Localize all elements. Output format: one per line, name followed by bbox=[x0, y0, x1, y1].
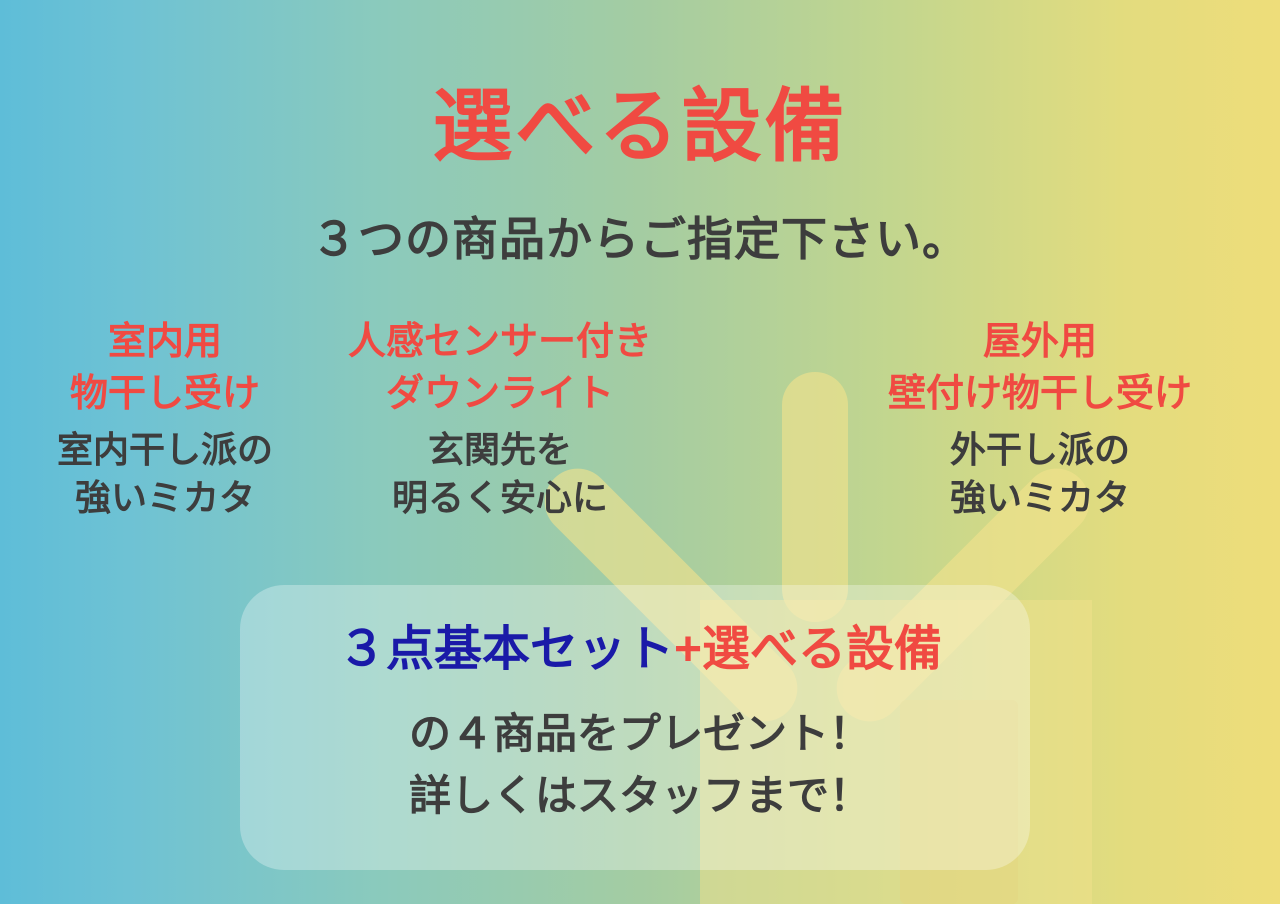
option-title-line1: 屋外用 bbox=[983, 321, 1097, 363]
option-title-line2: 物干し受け bbox=[4, 368, 326, 420]
option-title-line1: 室内用 bbox=[108, 321, 222, 363]
offer-headline-set: ３点基本セット bbox=[338, 623, 674, 676]
option-title: 屋外用 壁付け物干し受け bbox=[834, 316, 1246, 420]
offer-headline-plus: + bbox=[674, 623, 702, 676]
offer-headline: ３点基本セット+選べる設備 bbox=[0, 622, 1280, 678]
page-title: 選べる設備 bbox=[0, 82, 1280, 172]
offer-headline-equipment: 選べる設備 bbox=[702, 623, 942, 676]
offer-line-present: の４商品をプレゼント！ bbox=[0, 700, 1280, 761]
option-description: 玄関先を 明るく安心に bbox=[334, 426, 666, 522]
option-desc-line2: 明るく安心に bbox=[334, 474, 666, 522]
option-title-line2: ダウンライト bbox=[334, 368, 666, 420]
options-row: 室内用 物干し受け 室内干し派の 強いミカタ 人感センサー付き ダウンライト 玄… bbox=[0, 316, 1280, 522]
option-desc-line1: 玄関先を bbox=[428, 429, 572, 470]
option-card-downlight: 人感センサー付き ダウンライト 玄関先を 明るく安心に bbox=[330, 316, 670, 522]
option-desc-line2: 強いミカタ bbox=[834, 474, 1246, 522]
option-description: 室内干し派の 強いミカタ bbox=[4, 426, 326, 522]
promo-poster: 選べる設備 ３つの商品からご指定下さい。 室内用 物干し受け 室内干し派の 強い… bbox=[0, 0, 1280, 904]
option-title: 室内用 物干し受け bbox=[4, 316, 326, 420]
option-desc-line1: 外干し派の bbox=[950, 429, 1130, 470]
option-card-indoor: 室内用 物干し受け 室内干し派の 強いミカタ bbox=[0, 316, 330, 522]
option-description: 外干し派の 強いミカタ bbox=[834, 426, 1246, 522]
page-subtitle: ３つの商品からご指定下さい。 bbox=[0, 203, 1280, 269]
option-title-line1: 人感センサー付き bbox=[348, 321, 652, 363]
option-title-line2: 壁付け物干し受け bbox=[834, 368, 1246, 420]
offer-line-staff: 詳しくはスタッフまで！ bbox=[0, 762, 1280, 823]
option-title: 人感センサー付き ダウンライト bbox=[334, 316, 666, 420]
option-desc-line2: 強いミカタ bbox=[4, 474, 326, 522]
option-card-outdoor: 屋外用 壁付け物干し受け 外干し派の 強いミカタ bbox=[830, 316, 1250, 522]
option-desc-line1: 室内干し派の bbox=[57, 429, 273, 470]
